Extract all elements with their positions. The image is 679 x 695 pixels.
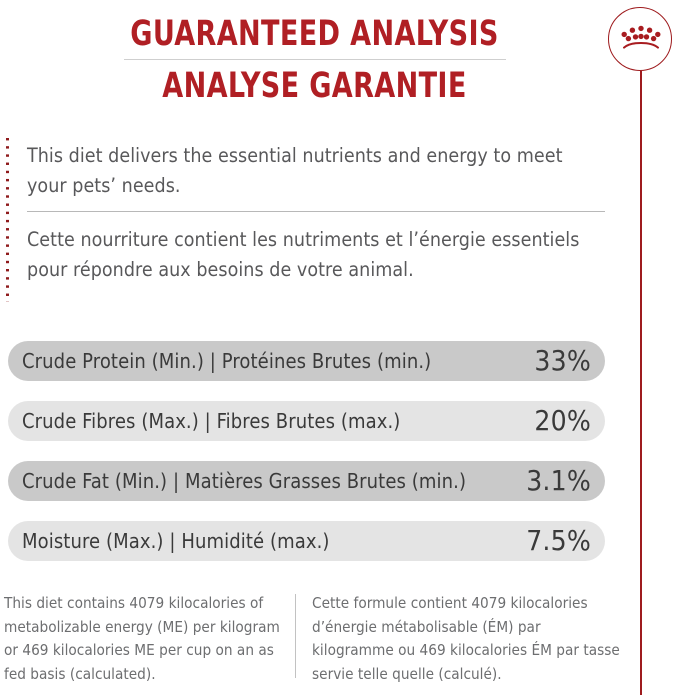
title-french: ANALYSE GARANTIE bbox=[44, 66, 585, 106]
description-french: Cette nourriture contient les nutriments… bbox=[27, 225, 607, 285]
description-divider bbox=[27, 211, 605, 212]
logo-vertical-line bbox=[640, 71, 642, 695]
nutrient-value: 3.1% bbox=[526, 461, 591, 501]
nutrient-label: Crude Fat (Min.) | Matières Grasses Brut… bbox=[22, 461, 466, 501]
footer-text-english: This diet contains 4079 kilocalories of … bbox=[4, 592, 295, 686]
nutrient-value: 20% bbox=[534, 401, 591, 441]
page-title: GUARANTEED ANALYSIS ANALYSE GARANTIE bbox=[0, 14, 629, 106]
footer-text-french: Cette formule contient 4079 kilocalories… bbox=[296, 592, 622, 686]
nutrient-label: Moisture (Max.) | Humidité (max.) bbox=[22, 521, 330, 561]
table-row: Crude Fat (Min.) | Matières Grasses Brut… bbox=[8, 461, 605, 501]
nutrient-label: Crude Protein (Min.) | Protéines Brutes … bbox=[22, 341, 431, 381]
table-row: Moisture (Max.) | Humidité (max.) 7.5% bbox=[8, 521, 605, 561]
guaranteed-analysis-table: Crude Protein (Min.) | Protéines Brutes … bbox=[8, 341, 605, 581]
caloric-content-footer: This diet contains 4079 kilocalories of … bbox=[4, 592, 629, 686]
title-english: GUARANTEED ANALYSIS bbox=[44, 14, 585, 54]
nutrient-value: 7.5% bbox=[526, 521, 591, 561]
description-english: This diet delivers the essential nutrien… bbox=[27, 141, 607, 201]
dotted-accent-rail bbox=[6, 138, 9, 302]
nutrient-value: 33% bbox=[534, 341, 591, 381]
table-row: Crude Protein (Min.) | Protéines Brutes … bbox=[8, 341, 605, 381]
table-row: Crude Fibres (Max.) | Fibres Brutes (max… bbox=[8, 401, 605, 441]
title-divider bbox=[124, 59, 506, 60]
nutrient-label: Crude Fibres (Max.) | Fibres Brutes (max… bbox=[22, 401, 400, 441]
